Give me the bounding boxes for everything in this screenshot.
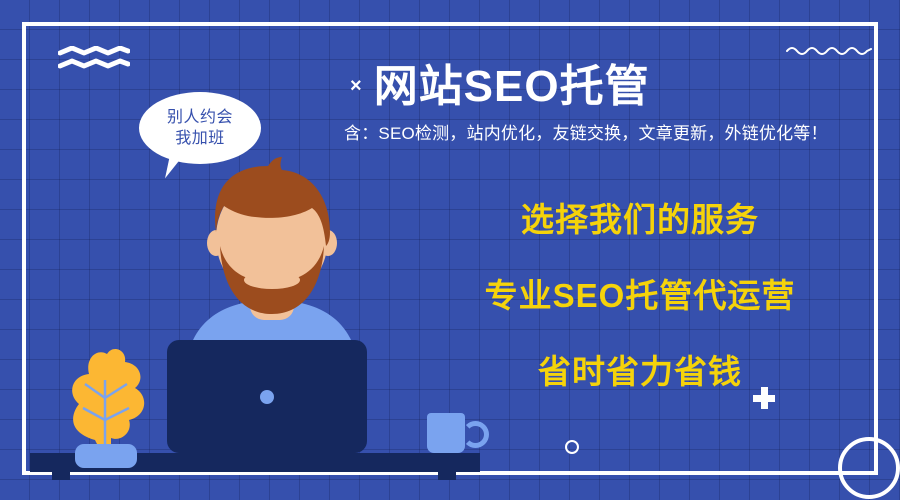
page-title: 网站SEO托管 bbox=[374, 50, 650, 114]
small-circle-outline-icon bbox=[565, 440, 579, 454]
headline-subtitle: 含：SEO检测，站内优化，友链交换，文章更新，外链优化等！ bbox=[344, 119, 828, 144]
plant-leaf bbox=[72, 349, 144, 448]
slogan-list: 选择我们的服务 专业SEO托管代运营 省时省力省钱 bbox=[440, 193, 840, 393]
slogan-line-3: 省时省力省钱 bbox=[440, 345, 840, 393]
coffee-mug bbox=[427, 413, 465, 453]
speech-bubble: 别人约会 我加班 bbox=[139, 92, 261, 164]
plant-illustration bbox=[55, 340, 165, 470]
slogan-line-1: 选择我们的服务 bbox=[440, 193, 840, 241]
mug-handle bbox=[462, 421, 489, 448]
headline-row: × 网站SEO托管 bbox=[350, 50, 850, 114]
plus-icon bbox=[753, 387, 775, 409]
plant-pot bbox=[75, 444, 137, 468]
corner-circle-outline-icon bbox=[838, 437, 900, 499]
speech-bubble-line-1: 别人约会 bbox=[167, 107, 233, 128]
slogan-line-2: 专业SEO托管代运营 bbox=[440, 269, 840, 317]
seo-promo-banner: 别人约会 我加班 × 网站SEO托管 含：SEO检测，站内优化，友链交换，文章更… bbox=[0, 0, 900, 500]
headline-bullet-x: × bbox=[350, 75, 362, 98]
mouth-shape bbox=[244, 271, 300, 289]
speech-bubble-line-2: 我加班 bbox=[175, 128, 225, 149]
ear-left bbox=[207, 230, 225, 256]
laptop-logo-dot bbox=[260, 390, 274, 404]
